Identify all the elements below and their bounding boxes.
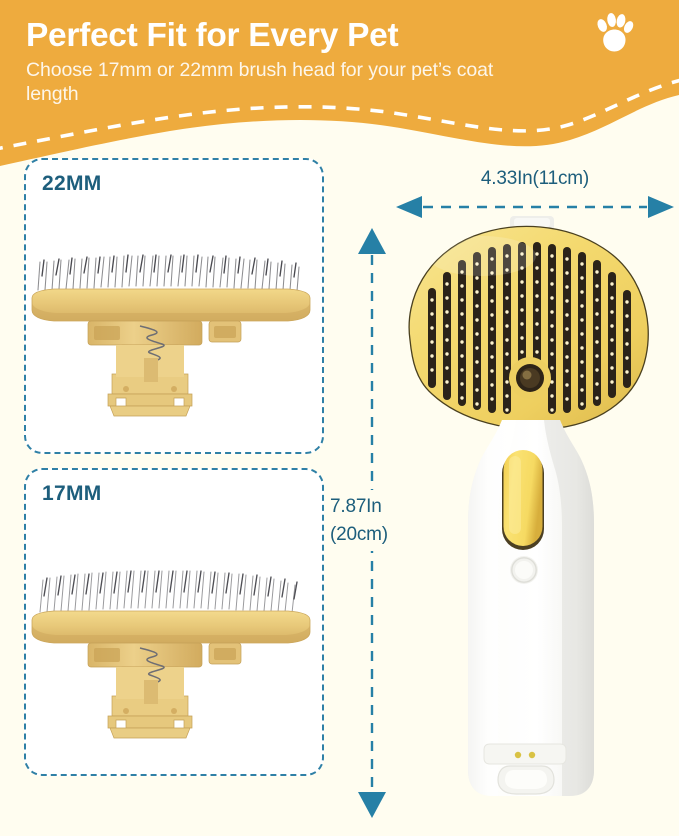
- card-label-17mm: 17MM: [42, 482, 102, 506]
- pet-grooming-brush-illustration: [398, 214, 666, 824]
- brush-head-17mm-image: [26, 554, 324, 776]
- infographic-root: Perfect Fit for Every Pet Choose 17mm or…: [0, 0, 679, 836]
- spec-card-17mm[interactable]: 17MM: [24, 468, 324, 776]
- product-image: [398, 214, 666, 824]
- dimension-width-arrow: [396, 194, 674, 220]
- dimension-height-line2: (20cm): [330, 521, 426, 549]
- dimension-height-label: 7.87In (20cm): [330, 490, 426, 551]
- dimension-height-line1: 7.87In: [330, 493, 426, 521]
- header-band: [0, 0, 679, 175]
- card-label-22mm: 22MM: [42, 172, 102, 196]
- dimension-width: 4.33In(11cm): [396, 168, 674, 222]
- spec-card-22mm[interactable]: 22MM: [24, 158, 324, 454]
- dimension-height: 7.87In (20cm): [352, 228, 392, 818]
- dimension-width-label: 4.33In(11cm): [396, 168, 674, 190]
- brush-head-22mm-image: [26, 246, 324, 454]
- header-wave-shape: [0, 0, 679, 175]
